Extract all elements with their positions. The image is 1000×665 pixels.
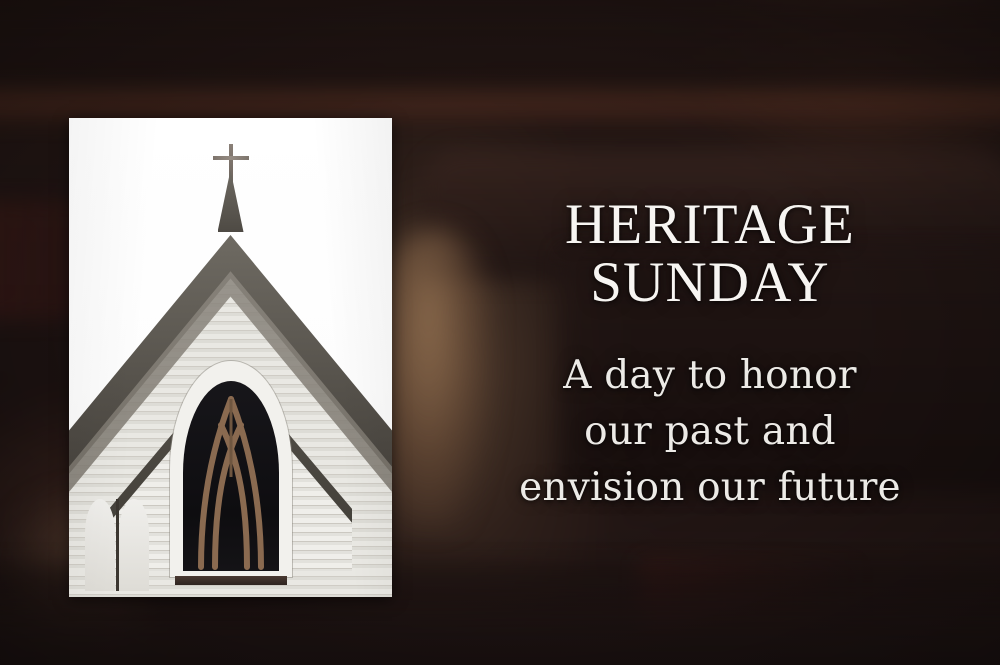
church-photo	[69, 118, 392, 597]
heritage-sunday-slide: HERITAGE SUNDAY A day to honor our past …	[0, 0, 1000, 665]
window-lancet-right	[119, 499, 149, 591]
window-sill	[175, 576, 287, 585]
page-title: HERITAGE SUNDAY	[450, 196, 970, 312]
gothic-window-tracery	[183, 381, 279, 571]
church-photo-content	[69, 118, 392, 597]
slide-text-block: HERITAGE SUNDAY A day to honor our past …	[450, 196, 970, 516]
cross-crossbar-icon	[213, 156, 249, 160]
window-mullion	[116, 499, 119, 591]
slide-subtitle: A day to honor our past and envision our…	[450, 348, 970, 516]
window-lancet-left	[85, 499, 115, 591]
